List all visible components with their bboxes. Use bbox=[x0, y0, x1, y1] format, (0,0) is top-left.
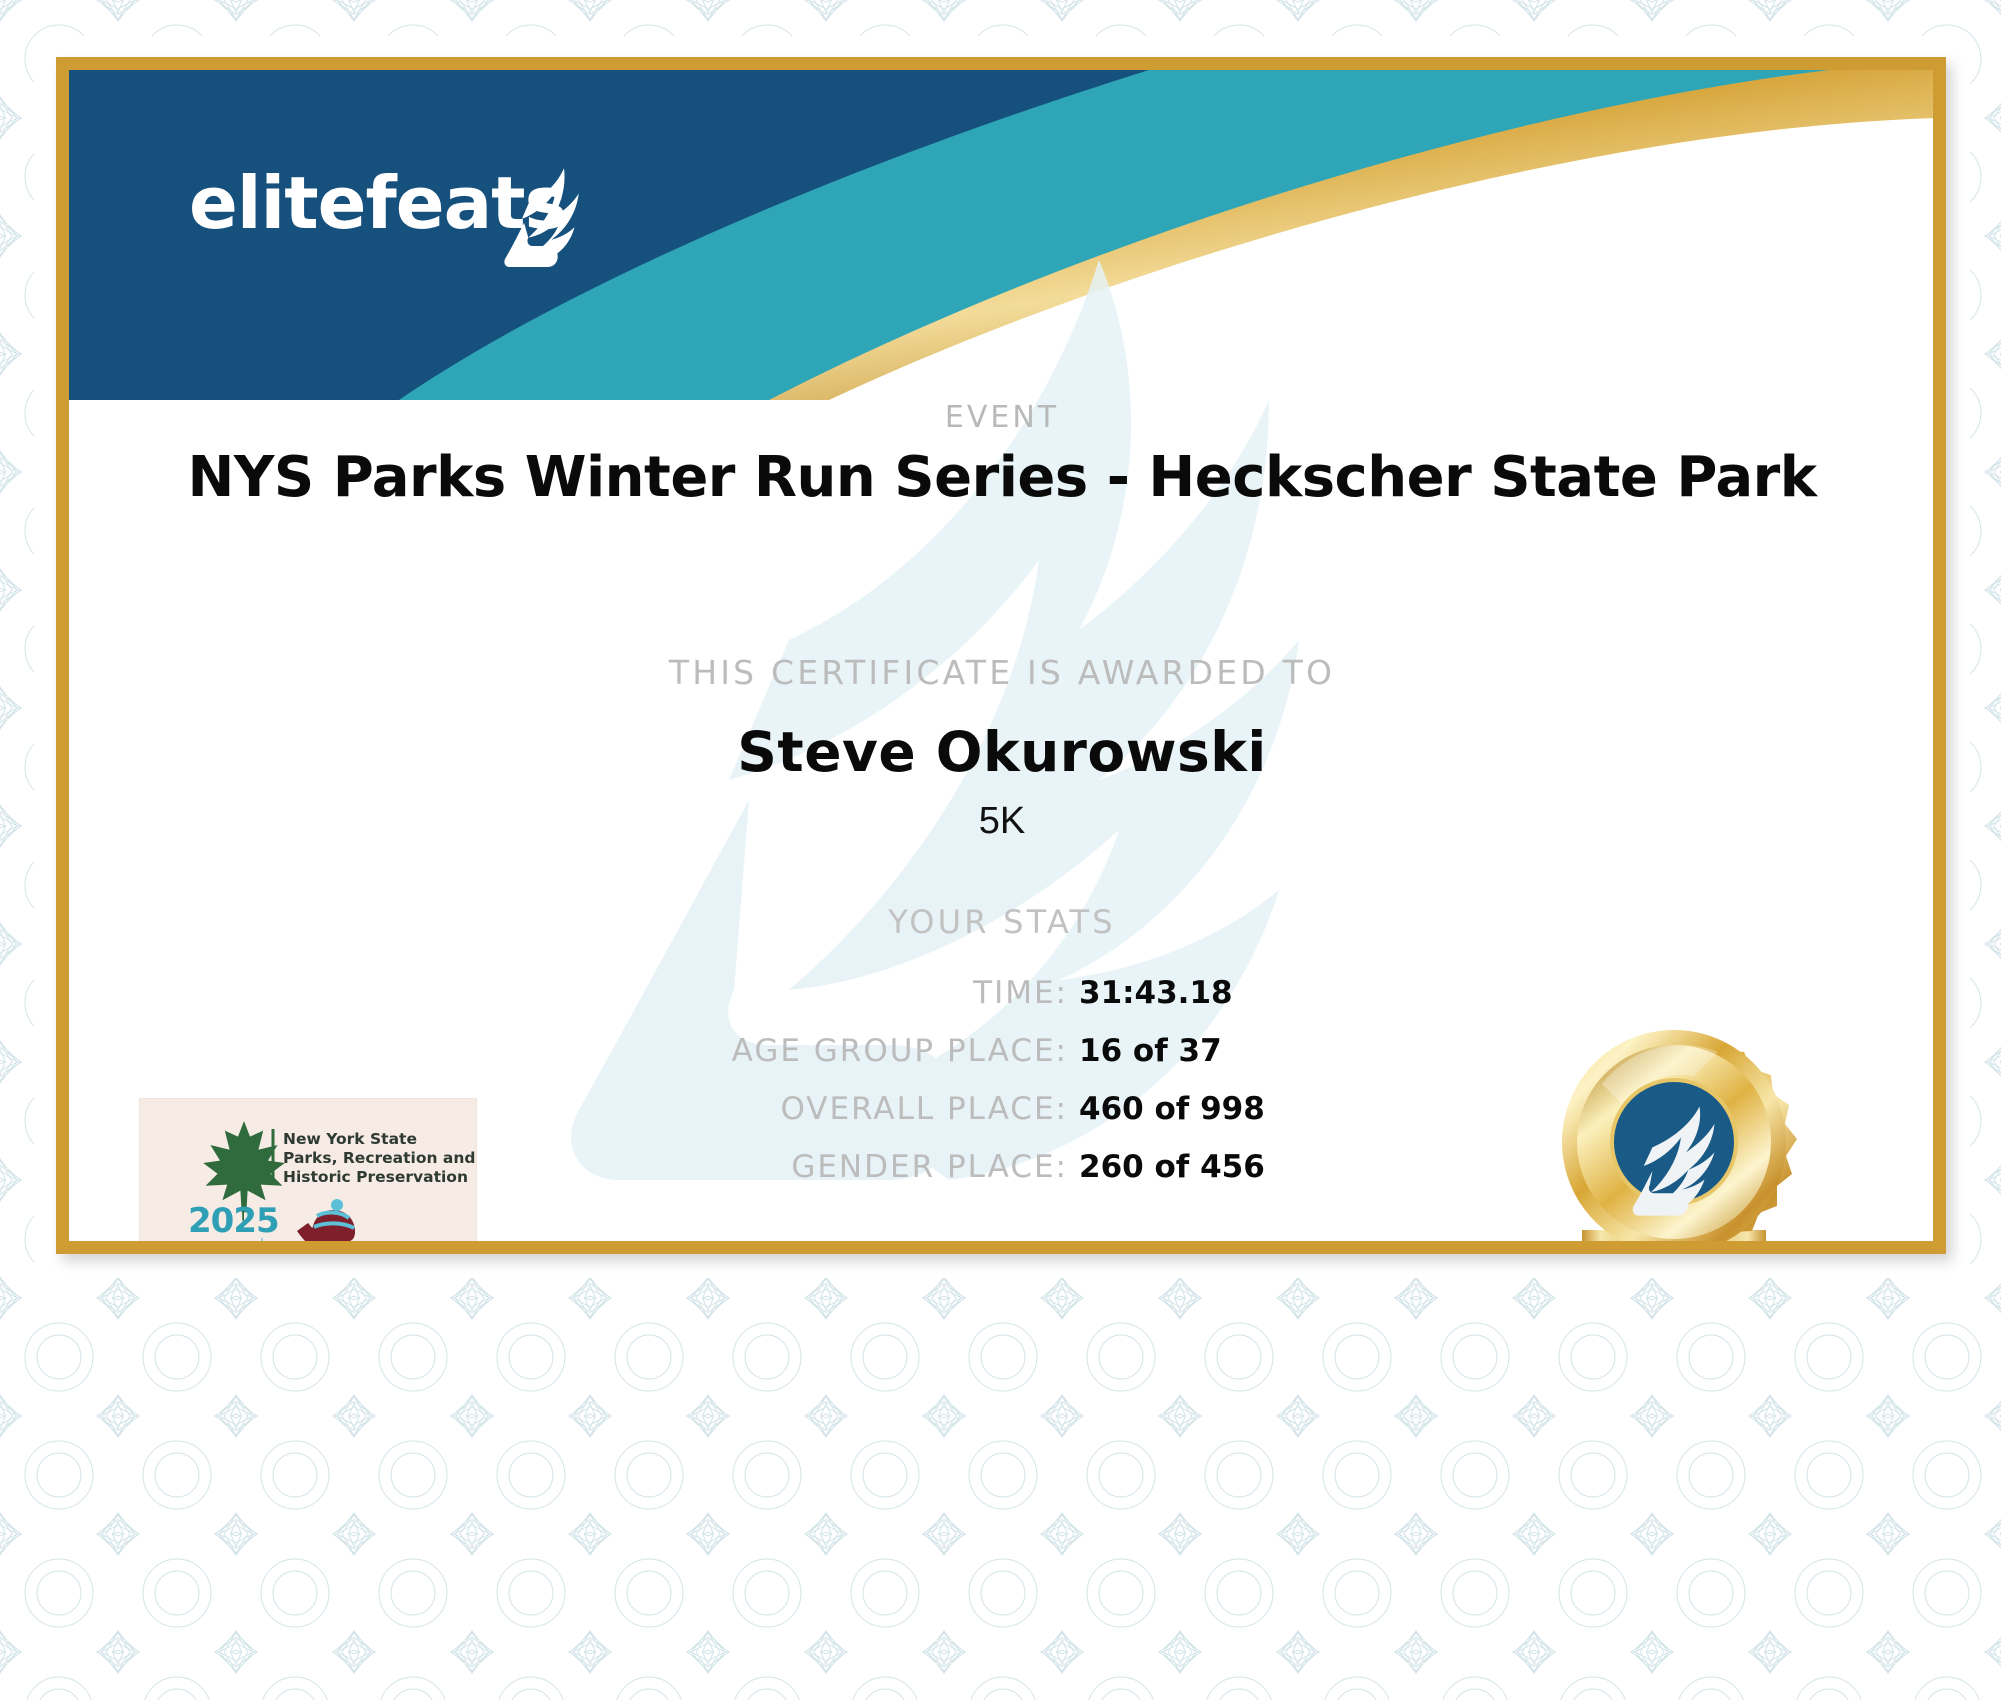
stat-label: OVERALL PLACE: bbox=[780, 1091, 1068, 1127]
stat-value: 460 of 998 bbox=[1079, 1091, 1309, 1127]
logo-year: 2025 bbox=[188, 1201, 279, 1241]
event-title: NYS Parks Winter Run Series - Heckscher … bbox=[69, 445, 1933, 510]
your-stats-label: YOUR STATS bbox=[69, 903, 1933, 941]
certificate-card: elitefeats EVENT NYS Parks Winter Run Se… bbox=[56, 57, 1946, 1254]
stat-label: AGE GROUP PLACE: bbox=[732, 1033, 1068, 1069]
stat-row-time: TIME: 31:43.18 bbox=[409, 975, 1309, 1031]
stat-row-overall-place: OVERALL PLACE: 460 of 998 bbox=[409, 1091, 1309, 1147]
stat-value: 31:43.18 bbox=[1079, 975, 1309, 1011]
stats-list: TIME: 31:43.18 AGE GROUP PLACE: 16 of 37… bbox=[409, 975, 1309, 1207]
agency-line-2: Parks, Recreation and bbox=[283, 1149, 476, 1167]
recipient-name: Steve Okurowski bbox=[69, 720, 1933, 784]
agency-line-1: New York State bbox=[283, 1130, 417, 1148]
stat-row-gender-place: GENDER PLACE: 260 of 456 bbox=[409, 1149, 1309, 1205]
event-label: EVENT bbox=[69, 400, 1933, 435]
event-series-logo: New York State Parks, Recreation and His… bbox=[139, 1098, 477, 1241]
stat-value: 260 of 456 bbox=[1079, 1149, 1309, 1185]
stat-label: GENDER PLACE: bbox=[791, 1149, 1068, 1185]
stat-label: TIME: bbox=[973, 975, 1068, 1011]
awarded-to-label: THIS CERTIFICATE IS AWARDED TO bbox=[69, 653, 1933, 692]
agency-line-3: Historic Preservation bbox=[283, 1168, 468, 1186]
stat-row-age-group-place: AGE GROUP PLACE: 16 of 37 bbox=[409, 1033, 1309, 1089]
header-banner-art: elitefeats bbox=[69, 70, 1933, 400]
svg-text:elitefeats: elitefeats bbox=[189, 161, 566, 245]
certificate-page: elitefeats EVENT NYS Parks Winter Run Se… bbox=[0, 0, 2001, 1700]
medal-body bbox=[1562, 1030, 1797, 1241]
race-distance: 5K bbox=[69, 800, 1933, 843]
finisher-medal: 2025 bbox=[1464, 1030, 1884, 1241]
stat-value: 16 of 37 bbox=[1079, 1033, 1309, 1069]
